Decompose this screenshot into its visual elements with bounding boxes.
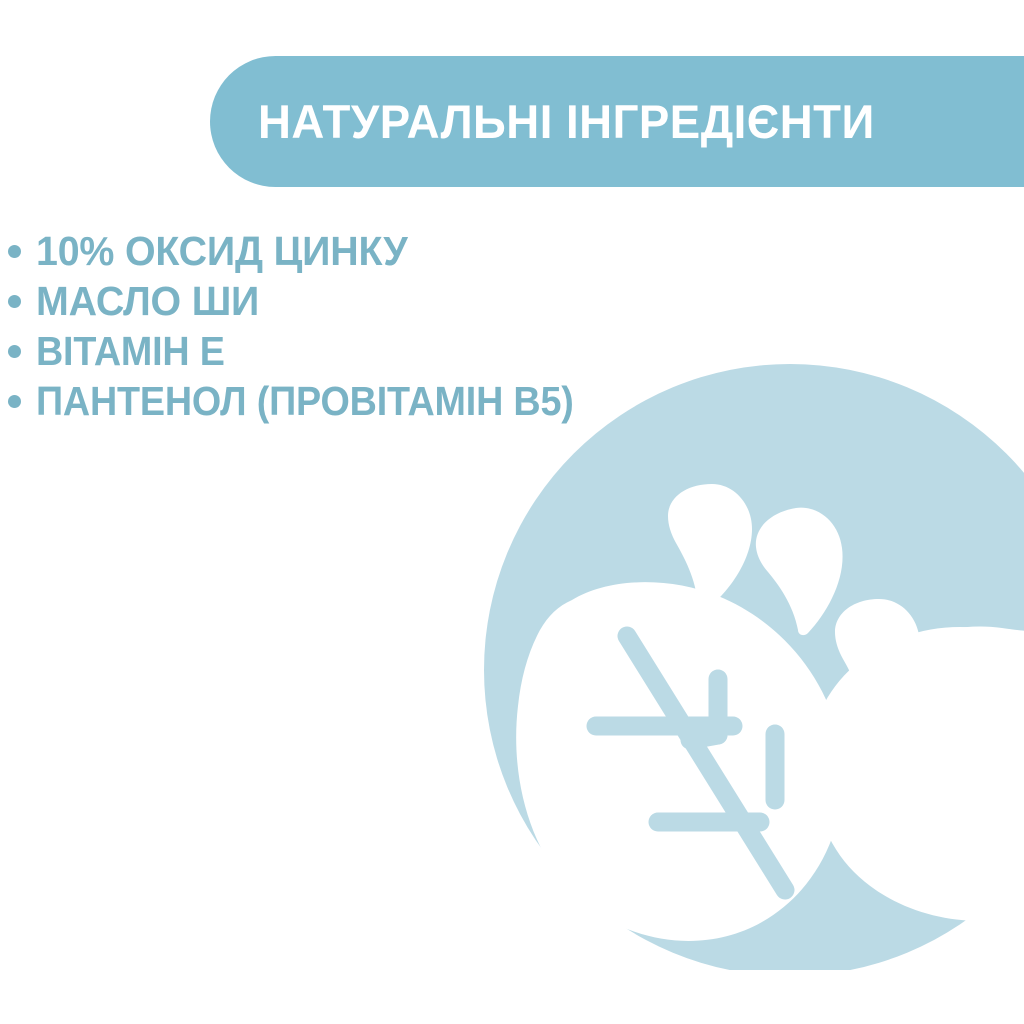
back-leaf [812, 624, 1024, 921]
list-item: 10% ОКСИД ЦИНКУ [0, 226, 720, 276]
ingredient-list: 10% ОКСИД ЦИНКУ МАСЛО ШИ ВІТАМІН Е ПАНТЕ… [0, 226, 720, 426]
bullet-dot-icon [8, 245, 21, 258]
petal-left [668, 484, 752, 610]
bullet-dot-icon [8, 395, 21, 408]
badge-circle [484, 364, 1024, 976]
petal-group [668, 484, 920, 727]
ingredient-label: 10% ОКСИД ЦИНКУ [36, 231, 408, 272]
ingredient-label: МАСЛО ШИ [36, 281, 259, 322]
ingredient-label: ВІТАМІН Е [36, 331, 225, 372]
bullet-dot-icon [8, 345, 21, 358]
leaf-vein-group [596, 636, 785, 890]
list-item: ВІТАМІН Е [0, 326, 720, 376]
leaf-midrib [627, 636, 785, 890]
petal-right [835, 599, 920, 727]
back-leaf-body [810, 627, 1024, 893]
page-title: НАТУРАЛЬНІ ІНГРЕДІЄНТИ [258, 98, 875, 145]
list-item: ПАНТЕНОЛ (ПРОВІТАМІН В5) [0, 376, 720, 426]
main-leaf [516, 582, 843, 941]
bullet-dot-icon [8, 295, 21, 308]
petal-middle [756, 508, 843, 635]
leaf-vein-upper-b [690, 735, 718, 740]
header-banner: НАТУРАЛЬНІ ІНГРЕДІЄНТИ [210, 56, 1024, 187]
back-leaf-shape [819, 628, 1024, 904]
ingredient-label: ПАНТЕНОЛ (ПРОВІТАМІН В5) [36, 381, 574, 422]
poster-canvas: НАТУРАЛЬНІ ІНГРЕДІЄНТИ 10% ОКСИД ЦИНКУ М… [0, 0, 1024, 1024]
list-item: МАСЛО ШИ [0, 276, 720, 326]
